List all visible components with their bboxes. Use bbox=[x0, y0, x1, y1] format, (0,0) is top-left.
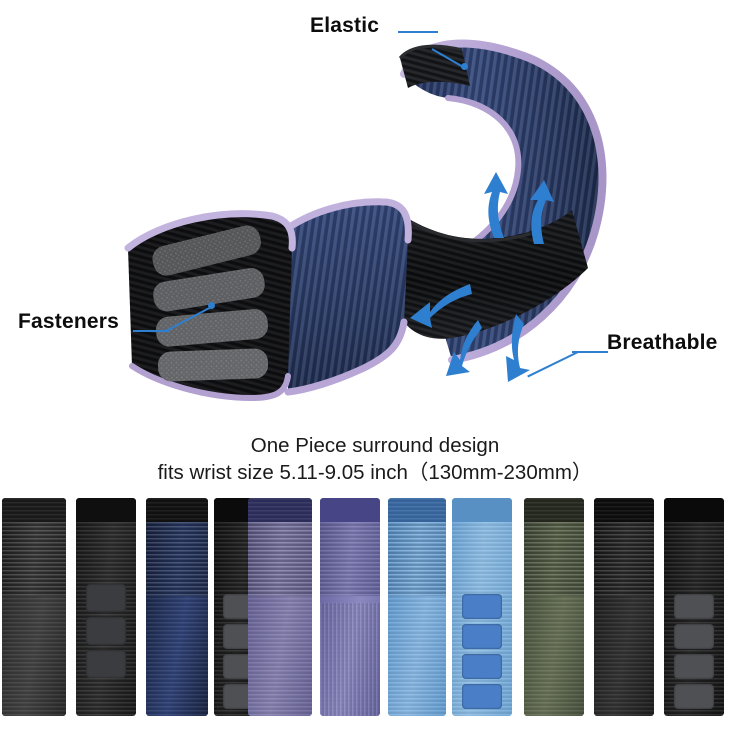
fastener-pads bbox=[674, 594, 714, 709]
caption-line-1: One Piece surround design bbox=[251, 434, 499, 457]
fastener-pad bbox=[462, 594, 502, 619]
product-image: Elastic Fasteners Breathable One Piece s… bbox=[0, 0, 750, 750]
caption-line-2: fits wrist size 5.11-9.05 inch（130mm-230… bbox=[0, 459, 750, 486]
product-caption: One Piece surround design fits wrist siz… bbox=[0, 432, 750, 486]
fastener-pad bbox=[86, 650, 126, 678]
label-breathable: Breathable bbox=[607, 331, 718, 355]
label-elastic: Elastic bbox=[310, 14, 379, 38]
swatch-navy-blue[interactable] bbox=[146, 498, 208, 716]
anchor-dot-elastic bbox=[461, 63, 468, 70]
band-middle-segment bbox=[288, 202, 408, 392]
fastener-pad bbox=[86, 584, 126, 612]
band-vector bbox=[0, 0, 750, 430]
swatch-olive-green[interactable] bbox=[524, 498, 584, 716]
swatch-black-solid[interactable] bbox=[594, 498, 654, 716]
swatch-black-grey[interactable] bbox=[2, 498, 66, 716]
label-fasteners: Fasteners bbox=[18, 310, 119, 334]
swatch-charcoal-fasteners[interactable] bbox=[76, 498, 136, 716]
fastener-pad bbox=[674, 684, 714, 709]
fastener-pad bbox=[674, 594, 714, 619]
hero-band-illustration bbox=[0, 0, 750, 430]
fastener-pad bbox=[462, 624, 502, 649]
fastener-pads bbox=[462, 594, 502, 709]
fastener-pad bbox=[462, 654, 502, 679]
fastener-pad bbox=[86, 617, 126, 645]
swatch-violet-weave[interactable] bbox=[320, 498, 380, 716]
fastener-pad bbox=[674, 624, 714, 649]
swatch-black-grey-fasteners[interactable] bbox=[664, 498, 724, 716]
swatch-sky-blue[interactable] bbox=[388, 498, 446, 716]
fastener-pads bbox=[86, 584, 126, 678]
color-variant-row bbox=[0, 498, 750, 716]
fastener-pad bbox=[462, 684, 502, 709]
leader-line-fasteners bbox=[133, 330, 169, 332]
swatch-light-blue-fasteners[interactable] bbox=[452, 498, 512, 716]
fastener-pad bbox=[674, 654, 714, 679]
leader-line-elastic bbox=[398, 31, 438, 33]
swatch-lavender-purple[interactable] bbox=[248, 498, 312, 716]
anchor-dot-fasteners bbox=[208, 302, 215, 309]
anchor-dot-breathable bbox=[515, 322, 522, 329]
